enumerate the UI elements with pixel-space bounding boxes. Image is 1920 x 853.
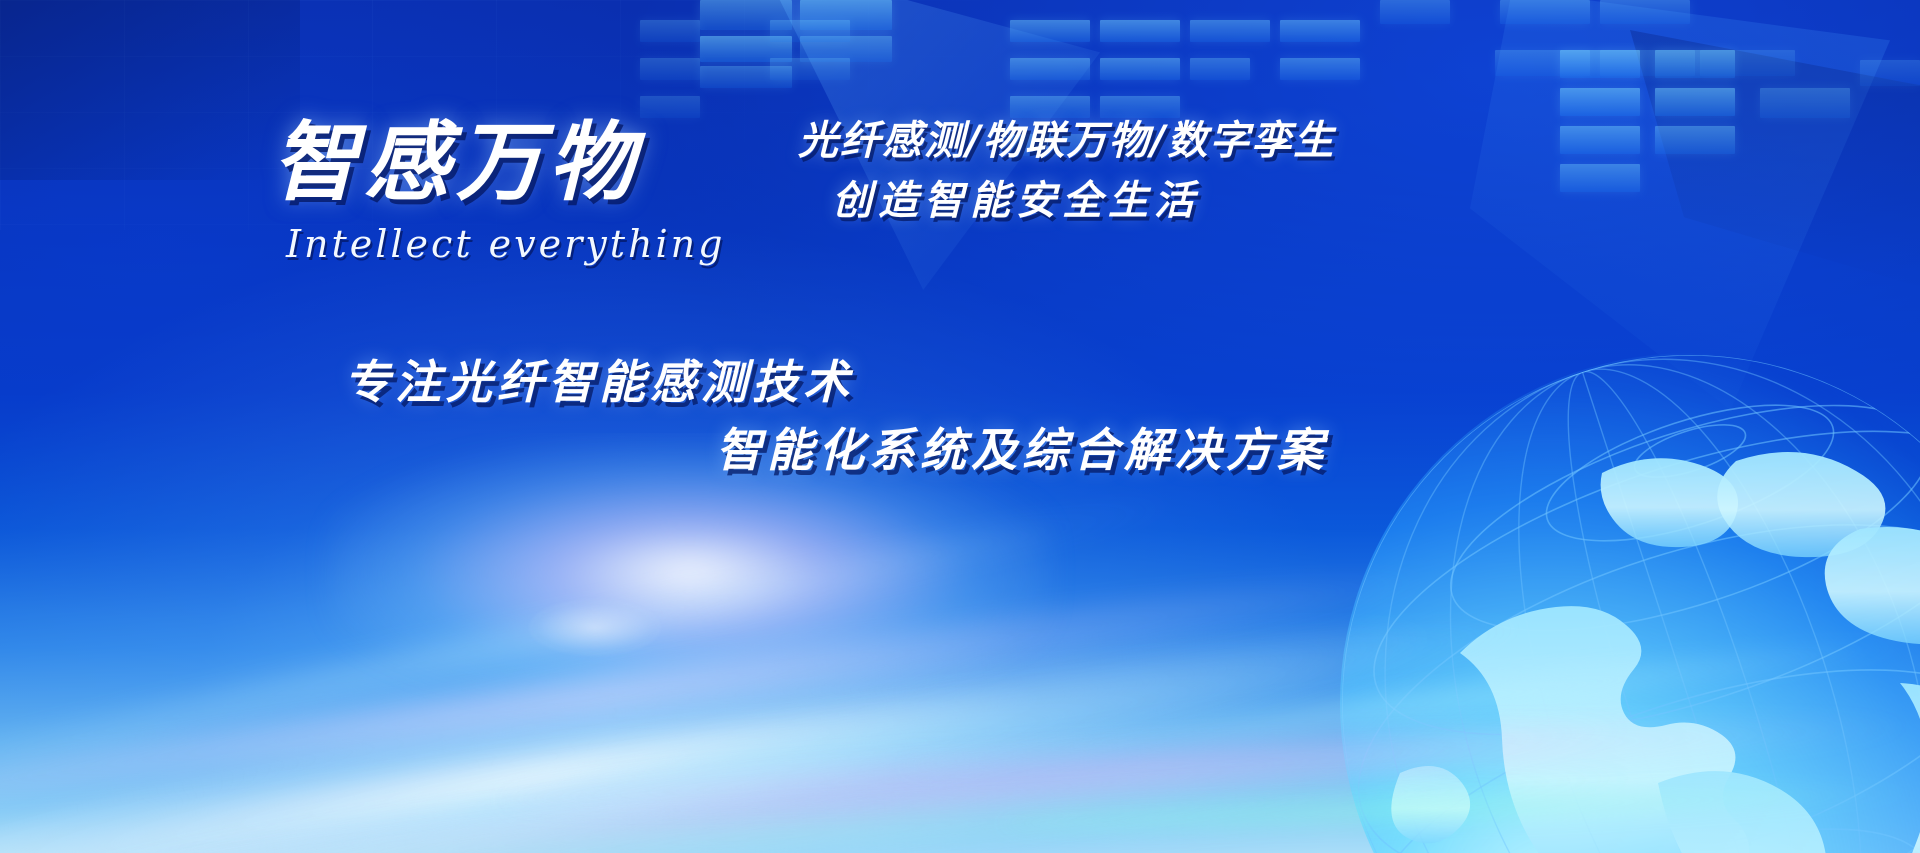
slogan-solutions: 智能化系统及综合解决方案 [716,414,1328,480]
digital-block [1280,20,1360,42]
digital-block [1190,20,1270,42]
digital-block [640,96,700,118]
digital-block [1860,60,1920,86]
digital-block [1560,164,1640,192]
tagline-mission: 创造智能安全生活 [832,168,1200,226]
page-title: 智感万物 [272,92,640,217]
tagline-services: 光纤感测/物联万物/数字孪生 [798,108,1335,166]
digital-block [1190,58,1250,80]
digital-block [1560,50,1640,78]
digital-block [1380,0,1450,24]
page-subtitle-english: Intellect everything [286,222,725,266]
digital-block [1100,20,1180,42]
promotional-banner: 智感万物 Intellect everything 光纤感测/物联万物/数字孪生… [0,0,1920,853]
digital-block [770,58,850,80]
digital-block [770,20,850,42]
digital-block [1280,58,1360,80]
digital-block [1655,126,1735,154]
digital-block [640,20,700,42]
digital-block [1655,88,1735,116]
digital-block [1010,58,1090,80]
digital-block [1560,126,1640,154]
lens-flare-graphic [530,600,660,655]
digital-block [1655,50,1735,78]
digital-block [1600,0,1690,24]
digital-block [1100,58,1180,80]
digital-block [1760,88,1850,118]
digital-block [1560,88,1640,116]
digital-block [640,58,700,80]
digital-block [1010,20,1090,42]
slogan-focus: 专注光纤智能感测技术 [344,346,854,412]
digital-block [1500,0,1590,24]
light-streak-graphic [0,433,1920,853]
